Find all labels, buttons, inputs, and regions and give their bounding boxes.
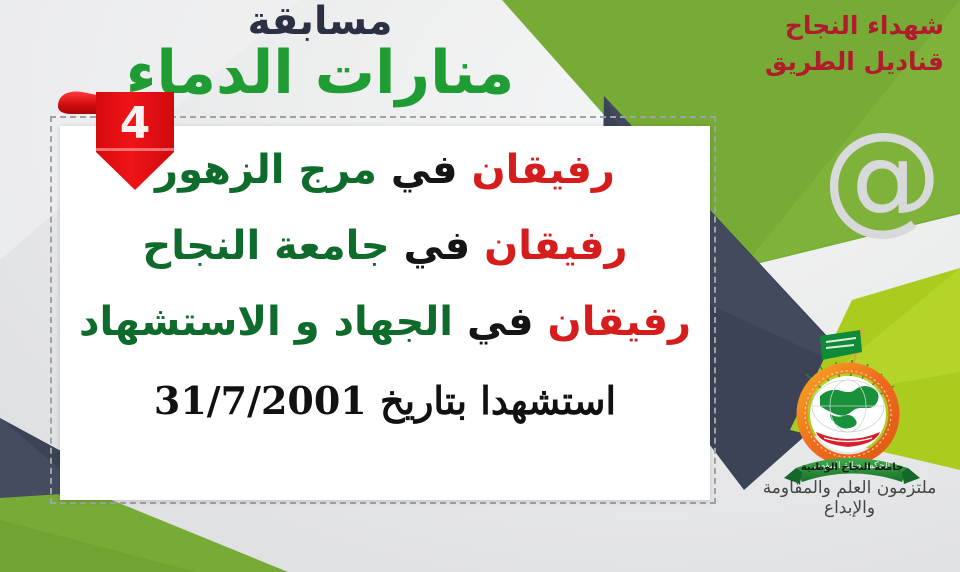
brand-block: شهداء النجاح قناديل الطريق [765,8,944,81]
line3-word-red: رفيقان [548,299,692,345]
line1-word-green: مرج الزهور [155,147,377,193]
wedge-green-bottomleft-2 [0,520,196,572]
at-watermark: @ [822,118,942,238]
body-line-1: رفيقان في مرج الزهور [70,150,700,190]
martyrdom-date-line: استشهدا بتاريخ 31/7/2001 [70,378,700,423]
line2-word-red: رفيقان [484,223,628,269]
line1-word-red: رفيقان [471,147,615,193]
line3-word-black: في [467,299,534,345]
brand-line-2: قناديل الطريق [765,44,944,80]
body-lines: رفيقان في مرج الزهور رفيقان في جامعة الن… [70,150,700,423]
body-line-3: رفيقان في الجهاد و الاستشهاد [70,302,700,342]
brand-line-1: شهداء النجاح [765,8,944,44]
line2-word-black: في [403,223,470,269]
logo-motto: ملتزمون العلم والمقاومة والإبداع [742,478,957,518]
ribbon-number: 4 [120,98,151,149]
ribbon-curl [58,92,102,114]
line2-word-green: جامعة النجاح [142,223,389,269]
line1-word-black: في [391,147,458,193]
wedge-green-bottomleft [0,492,288,572]
competition-label: مسابقة [0,2,640,43]
logo-university-name: جامعة النجاح الوطنية [762,462,942,473]
poster-canvas: @ مسابقة منارات الدماء شهداء النجاح قناد… [0,0,960,572]
body-line-2: رفيقان في جامعة النجاح [70,226,700,266]
line3-word-green: الجهاد و الاستشهاد [79,299,453,345]
